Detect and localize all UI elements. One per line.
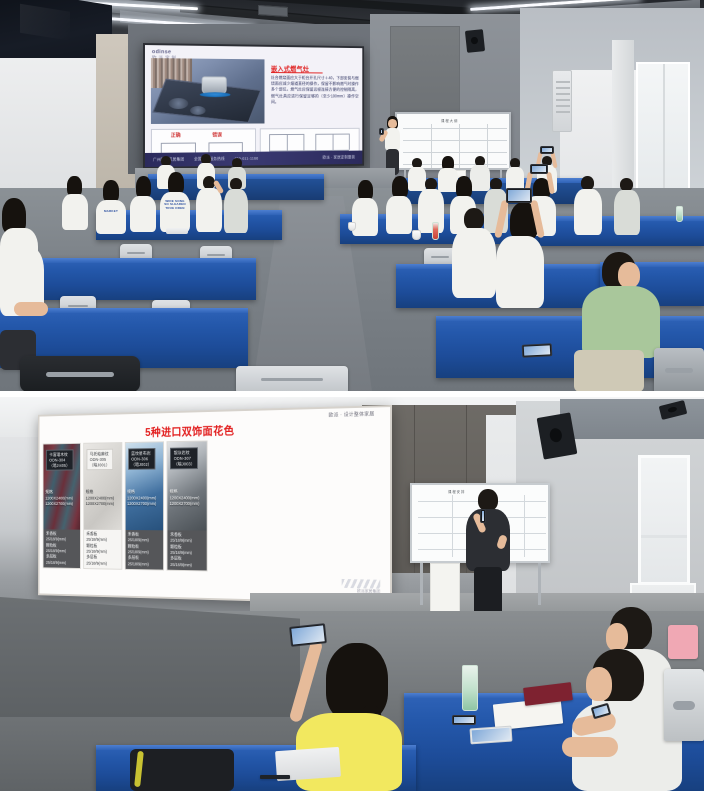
photo-panel-bottom: 欧派 · 设计整体家居 5种进口双饰面花色 卡富瑞木纹 ODN-304 （暗JI…: [0, 397, 704, 791]
swatch-spec: 规格 1200X2400(mm) 1200X2700(mm): [45, 490, 79, 508]
attendee: [574, 176, 602, 236]
swatch-spec: 规格 1200X2400(mm) 1200X2700(mm): [127, 489, 163, 507]
slide2-title: 5种进口双饰面花色: [145, 423, 234, 440]
attendee: [418, 178, 444, 234]
laptop: [166, 228, 188, 234]
slide-burner: [190, 106, 205, 115]
smartphone: [540, 146, 554, 154]
presenter-head: [478, 489, 498, 511]
swatch-spec-label: 规格: [170, 489, 178, 494]
ceiling-speaker: [537, 412, 578, 459]
swatch-label: 银灰岩纹 ODN-307 （暗J003）: [170, 447, 198, 470]
attendee: [196, 176, 222, 234]
slide-title-underline: [271, 72, 323, 73]
presenter-trousers: [474, 567, 502, 617]
swatch-name: 卡富瑞木纹: [49, 452, 70, 458]
whiteboard-leg: [420, 563, 423, 605]
photo-panel-top: odinse 欧 派 定 制 嵌入式燃气灶 灶台燃烧面应大于柜台开孔尺寸＋40，…: [0, 0, 704, 391]
power-bank: [469, 726, 512, 745]
window-right: [636, 62, 690, 194]
desk-row-near-left: [40, 258, 256, 300]
attendee-face: [606, 623, 628, 651]
slide-cooking-pot: [202, 76, 227, 94]
swatch-code-sub: （暗J003）: [174, 461, 195, 467]
attendee: [130, 176, 156, 234]
swatch-name: 马托帕麻纹: [90, 451, 110, 457]
smartphone: [530, 164, 548, 174]
chair-foreground: [654, 348, 704, 391]
presenter-female: [382, 116, 404, 176]
air-conditioner: [552, 70, 572, 132]
swatch-card: 马托帕麻纹 ODN-305 （暗J001） 规格 1200X2400(mm) 1…: [83, 442, 122, 570]
whiteboard-heading-text: 课 程 大 纲: [441, 118, 457, 123]
attendee: [386, 176, 412, 234]
swatch-spec-label: 规格: [45, 490, 52, 495]
projection-screen-bottom: 欧派 · 设计整体家居 5种进口双饰面花色 卡富瑞木纹 ODN-304 （暗JI…: [38, 405, 392, 605]
window-bottom: [638, 455, 690, 585]
attendee: [506, 158, 524, 192]
swatch-label: 马托帕麻纹 ODN-305 （暗J001）: [86, 448, 113, 470]
swatch-thickness: 禾香板 25/18/9(mm) 颗粒板 25/18/9(mm) 多层板 25/1…: [44, 529, 80, 568]
swatch-code-sub: （暗J002）: [131, 462, 151, 468]
attendee-face: [586, 667, 612, 701]
presenter-head: [388, 119, 397, 128]
attendee-foreground-green: [574, 252, 664, 391]
swatch-card: 蓝纹星布岩 ODN-306 （暗J002） 规格 1200X2400(mm) 1…: [124, 441, 164, 570]
slide2-swatch-row: 卡富瑞木纹 ODN-304 （暗JI405） 规格 1200X2400(mm) …: [43, 440, 208, 571]
slide-label-correct: 正确: [171, 131, 181, 138]
swatch-spec: 规格 1200X2400(mm) 1200X2700(mm): [170, 489, 207, 507]
slide-body-text: 灶台燃烧面应大于柜台开孔尺寸＋40，下部安装与燃烧面应减少烟道直径的操作，保留不…: [271, 75, 359, 105]
chair-foreground: [20, 356, 140, 391]
slide-label-wrong: 错误: [212, 131, 222, 138]
slide-footer-item: 欧派 · 家居定制整装: [323, 155, 355, 160]
water-bottle: [462, 665, 478, 711]
whiteboard-leg: [538, 563, 541, 605]
pen: [260, 775, 290, 779]
slide2-brand-logo: 欧派 · 设计整体家居: [329, 410, 375, 418]
swatch-code-sub: （暗J001）: [90, 462, 110, 468]
slide-burner: [169, 98, 189, 109]
attendee-arm: [562, 737, 618, 757]
swatch-texture: 银灰岩纹 ODN-307 （暗J003） 规格 1200X2400(mm) 12…: [168, 441, 207, 530]
chair: [664, 669, 704, 741]
whiteboard-heading-text: 课 程 安 排: [448, 489, 464, 494]
swatch-spec-value: 1200X2400(mm) 1200X2700(mm): [86, 495, 114, 506]
swatch-texture: 蓝纹星布岩 ODN-306 （暗J002） 规格 1200X2400(mm) 1…: [125, 442, 163, 530]
microphone: [480, 509, 486, 523]
swatch-thickness: 禾香板 25/18/9(mm) 颗粒板 25/18/9(mm) 多层板 25/1…: [168, 530, 207, 570]
swatch-spec-label: 规格: [86, 490, 94, 495]
swatch-card: 卡富瑞木纹 ODN-304 （暗JI405） 规格 1200X2400(mm) …: [43, 443, 81, 569]
ceiling-speaker: [465, 29, 485, 53]
paper-cup: [348, 222, 356, 231]
ceiling-vent: [258, 5, 288, 17]
swatch-texture: 卡富瑞木纹 ODN-304 （暗JI405） 规格 1200X2400(mm) …: [44, 444, 80, 530]
chair-foreground: [236, 366, 348, 391]
attendee-arm: [289, 639, 324, 723]
smartphone: [506, 188, 532, 203]
attendee: MARKET: [96, 180, 126, 236]
swatch-spec-label: 规格: [127, 489, 135, 494]
seminar-room-top: odinse 欧 派 定 制 嵌入式燃气灶 灶台燃烧面应大于柜台开孔尺寸＋40，…: [0, 0, 704, 391]
swatch-thickness: 禾香板 25/18/9(mm) 颗粒板 25/18/9(mm) 多层板 25/1…: [84, 529, 121, 568]
handbag: [130, 749, 240, 791]
swatch-card: 银灰岩纹 ODN-307 （暗J003） 规格 1200X2400(mm) 12…: [167, 440, 208, 571]
attendee: [614, 178, 640, 236]
smartphone: [289, 623, 327, 647]
flipchart-paper: [430, 563, 460, 613]
attendee: [452, 208, 496, 312]
swatch-spec-value: 1200X2400(mm) 1200X2700(mm): [170, 495, 200, 506]
swatch-spec-value: 1200X2400(mm) 1200X2700(mm): [127, 495, 156, 506]
swatch-name: 蓝纹星布岩: [131, 451, 151, 457]
swatch-code-sub: （暗JI405）: [49, 463, 70, 469]
attendee: WIDE SONGSO SLEARENTRUE DREN: [160, 172, 190, 234]
tshirt-print: MARKET: [101, 210, 121, 213]
photo-composite: odinse 欧 派 定 制 嵌入式燃气灶 灶台燃烧面应大于柜台开孔尺寸＋40，…: [0, 0, 704, 791]
swatch-texture: 马托帕麻纹 ODN-305 （暗J001） 规格 1200X2400(mm) 1…: [84, 443, 121, 530]
presenter-microphone: [379, 128, 384, 135]
water-bottle: [432, 222, 439, 240]
smartphone-on-desk: [522, 343, 553, 358]
pink-item: [668, 625, 698, 659]
attendee: [62, 176, 88, 232]
paper-cup: [412, 230, 421, 240]
swatch-label: 卡富瑞木纹 ODN-304 （暗JI405）: [46, 449, 73, 471]
slide-footer-bar: 广州欧派家居集团 全国统一服务热线 400-611-1166 欧派 · 家居定制…: [145, 151, 362, 167]
tshirt-print: WIDE SONGSO SLEARENTRUE DREN: [164, 200, 186, 210]
swatch-thickness: 禾香板 25/18/9(mm) 颗粒板 25/18/9(mm) 多层板 25/1…: [125, 530, 163, 570]
slide-stove-photo: [151, 58, 265, 124]
swatch-spec: 规格 1200X2400(mm) 1200X2700(mm): [86, 489, 121, 507]
presenter-male: [466, 489, 510, 619]
smartphone-on-desk: [452, 715, 476, 725]
water-bottle: [676, 206, 683, 222]
seminar-room-bottom: 欧派 · 设计整体家居 5种进口双饰面花色 卡富瑞木纹 ODN-304 （暗JI…: [0, 397, 704, 791]
swatch-spec-value: 1200X2400(mm) 1200X2700(mm): [45, 495, 73, 505]
swatch-label: 蓝纹星布岩 ODN-306 （暗J002）: [128, 448, 155, 471]
attendee: [224, 178, 248, 234]
attendee-photographing: [496, 196, 546, 314]
projection-screen-top: odinse 欧 派 定 制 嵌入式燃气灶 灶台燃烧面应大于柜台开孔尺寸＋40，…: [143, 43, 364, 169]
